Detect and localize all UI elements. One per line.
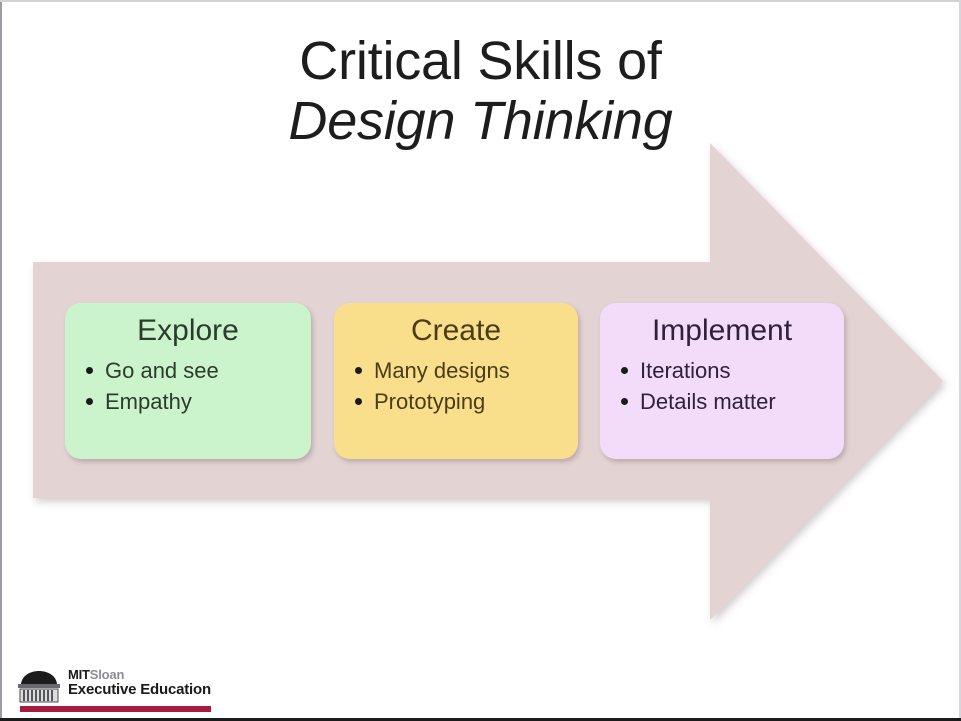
list-item-label: Go and see: [105, 358, 219, 383]
logo-wordmark: MITSloan Executive Education: [68, 668, 211, 698]
logo-line-1: MITSloan: [68, 668, 211, 681]
list-item-label: Empathy: [105, 389, 192, 414]
stage-title-implement: Implement: [600, 314, 844, 349]
title-line-2: Design Thinking: [0, 94, 961, 148]
title-line-1: Critical Skills of: [0, 34, 961, 88]
list-item: Iterations: [618, 355, 844, 386]
list-item: Prototyping: [352, 386, 578, 417]
stage-bullet-list-explore: Go and see Empathy: [65, 355, 311, 417]
list-item: Many designs: [352, 355, 578, 386]
logo-underline-rule: [20, 706, 211, 712]
list-item-label: Many designs: [374, 358, 510, 383]
bullet-icon: [86, 367, 93, 374]
slide-canvas: Critical Skills of Design Thinking Explo…: [0, 0, 961, 721]
bullet-icon: [621, 398, 628, 405]
stage-card-implement[interactable]: Implement Iterations Details matter: [600, 303, 844, 459]
list-item-label: Details matter: [640, 389, 776, 414]
stage-bullet-list-create: Many designs Prototyping: [334, 355, 578, 417]
stage-card-create[interactable]: Create Many designs Prototyping: [334, 303, 578, 459]
logo-tagline: Executive Education: [68, 682, 211, 698]
mit-sloan-logo: MITSloan Executive Education: [17, 668, 211, 703]
stage-bullet-list-implement: Iterations Details matter: [600, 355, 844, 417]
bullet-icon: [86, 398, 93, 405]
list-item: Empathy: [83, 386, 311, 417]
bullet-icon: [355, 398, 362, 405]
logo-mit-text: MIT: [68, 667, 90, 682]
list-item-label: Prototyping: [374, 389, 485, 414]
stage-card-explore[interactable]: Explore Go and see Empathy: [65, 303, 311, 459]
stage-title-create: Create: [334, 314, 578, 349]
bullet-icon: [621, 367, 628, 374]
list-item: Go and see: [83, 355, 311, 386]
page-title: Critical Skills of Design Thinking: [0, 34, 961, 148]
list-item-label: Iterations: [640, 358, 731, 383]
stage-title-explore: Explore: [65, 314, 311, 349]
mit-dome-icon: [17, 671, 61, 703]
logo-sloan-text: Sloan: [90, 667, 124, 682]
bullet-icon: [355, 367, 362, 374]
list-item: Details matter: [618, 386, 844, 417]
